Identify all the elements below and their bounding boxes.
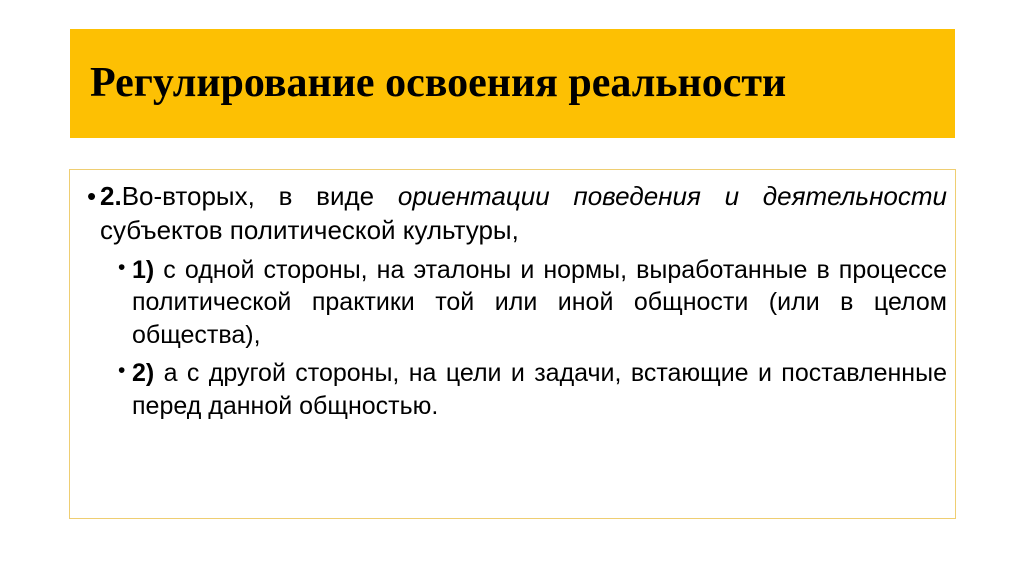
main-bullet-text-tail: субъектов политической культуры,	[100, 215, 519, 245]
page-title: Регулирование освоения реальности	[90, 61, 786, 105]
main-bullet-text-plain: Во-вторых, в виде	[122, 181, 398, 211]
sub-bullet-number-1: 1)	[132, 256, 154, 284]
main-bullet-number: 2.	[100, 181, 122, 211]
sub-bullet-list: •1) с одной стороны, на эталоны и нормы,…	[70, 254, 955, 423]
content-box: •2.Во-вторых, в виде ориентации поведени…	[69, 169, 956, 519]
list-item-sub-2: •2) а с другой стороны, на цели и задачи…	[70, 357, 955, 422]
sub-bullet-number-2: 2)	[132, 359, 154, 387]
bullet-dot-icon: •	[118, 357, 125, 386]
title-banner: Регулирование освоения реальности	[70, 29, 955, 138]
bullet-list: •2.Во-вторых, в виде ориентации поведени…	[70, 180, 955, 422]
bullet-dot-icon: •	[118, 254, 125, 283]
main-bullet-text-italic: ориентации поведения и деятельности	[398, 181, 947, 211]
bullet-dot-icon: •	[87, 180, 96, 214]
sub-bullet-text-1: с одной стороны, на эталоны и нормы, выр…	[132, 256, 947, 349]
list-item-main: •2.Во-вторых, в виде ориентации поведени…	[70, 180, 955, 248]
sub-bullet-text-2: а с другой стороны, на цели и задачи, вс…	[132, 359, 947, 420]
slide: Регулирование освоения реальности •2.Во-…	[0, 0, 1024, 574]
list-item-sub-1: •1) с одной стороны, на эталоны и нормы,…	[70, 254, 955, 352]
